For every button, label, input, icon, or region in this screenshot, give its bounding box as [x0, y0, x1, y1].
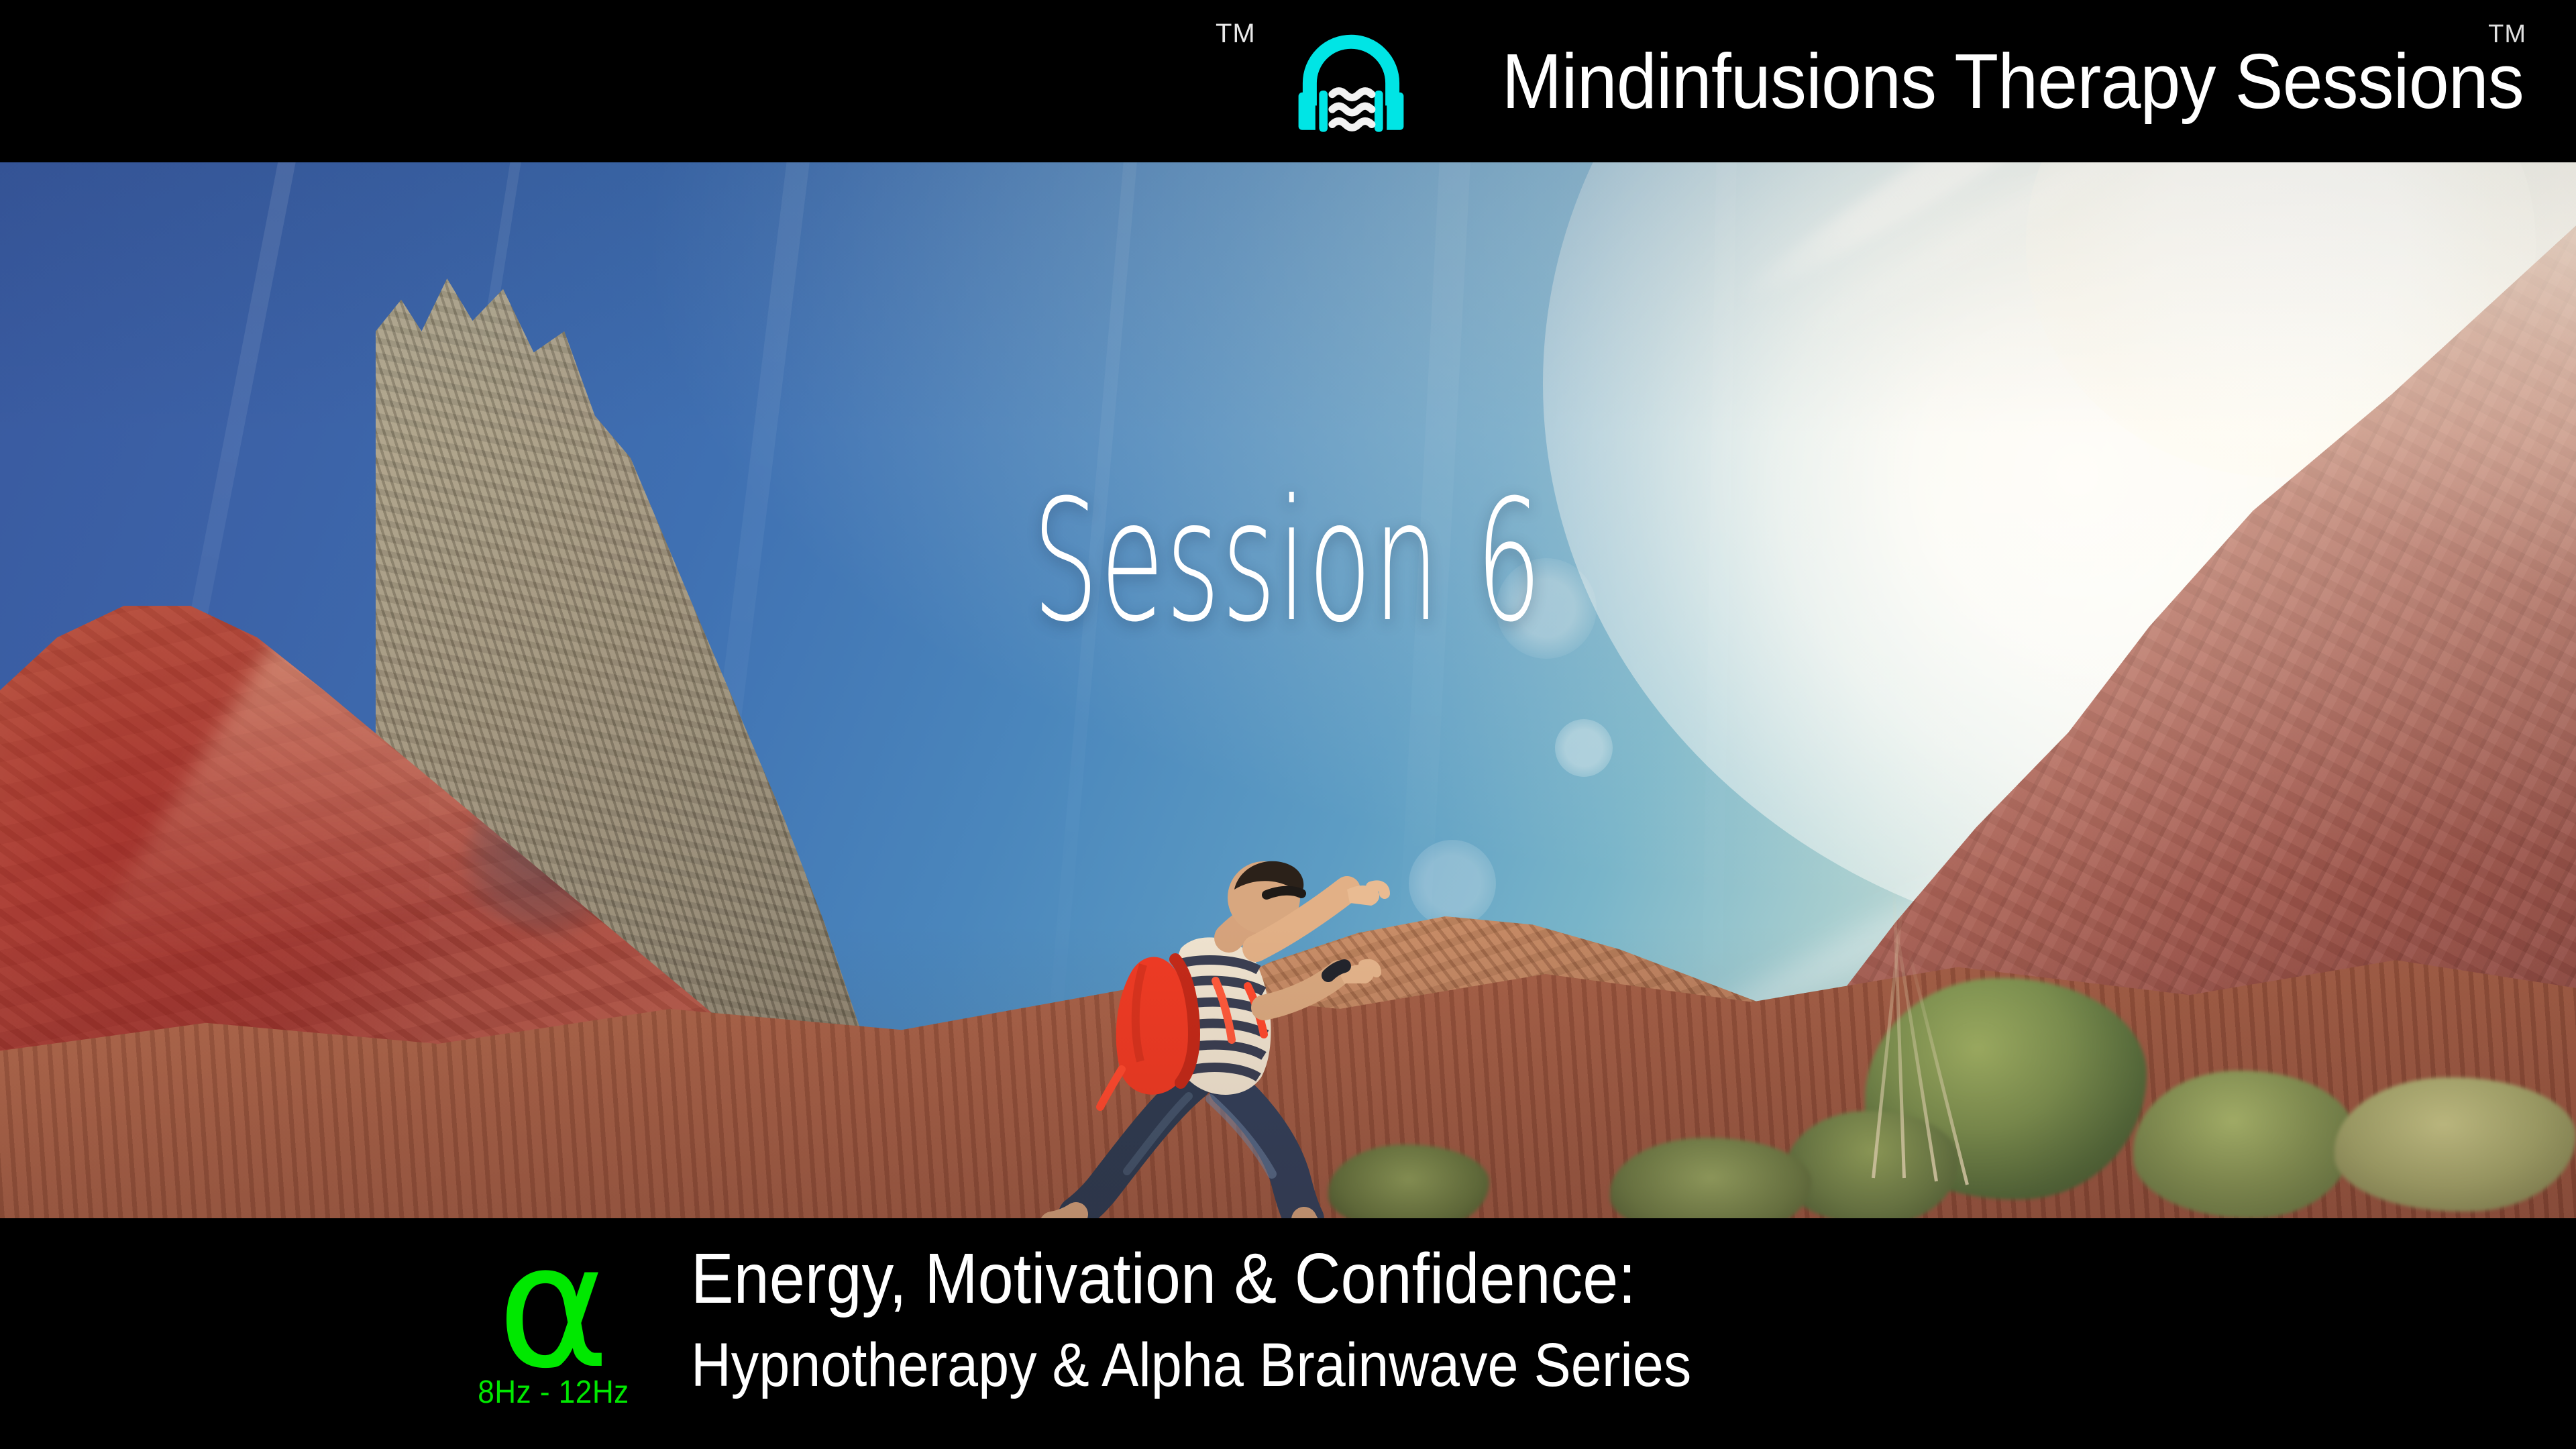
session-slide: Mindinfusions Therapy Sessions TM TM [0, 0, 2576, 1449]
header-bar: Mindinfusions Therapy Sessions TM TM [0, 0, 2576, 162]
brand-lockup: Mindinfusions Therapy Sessions [1295, 0, 2524, 162]
logo-trademark-mark: TM [1216, 19, 1256, 49]
brand-trademark-mark: TM [2488, 20, 2526, 49]
alpha-brainwave-symbol: α [463, 1224, 644, 1391]
jumping-hiker-icon [993, 820, 1503, 1218]
desert-shrub [2133, 1071, 2355, 1218]
alpha-badge: α 8Hz - 12Hz [463, 1228, 644, 1440]
program-subtitle: Hypnotherapy & Alpha Brainwave Series [691, 1328, 1691, 1403]
program-title: Energy, Motivation & Confidence: [691, 1236, 1691, 1322]
brand-title: Mindinfusions Therapy Sessions [1502, 42, 2524, 120]
lens-flare-circle [1496, 558, 1597, 659]
hero-photo: Session 6 [0, 162, 2576, 1218]
headphones-waves-icon [1295, 25, 1407, 138]
lens-flare-circle [1555, 719, 1613, 777]
frequency-range-label: 8Hz - 12Hz [470, 1374, 637, 1411]
desert-shrub [2334, 1077, 2576, 1212]
footer-bar: α 8Hz - 12Hz Energy, Motivation & Confid… [0, 1218, 2576, 1449]
footer-text-block: Energy, Motivation & Confidence: Hypnoth… [691, 1236, 1803, 1403]
